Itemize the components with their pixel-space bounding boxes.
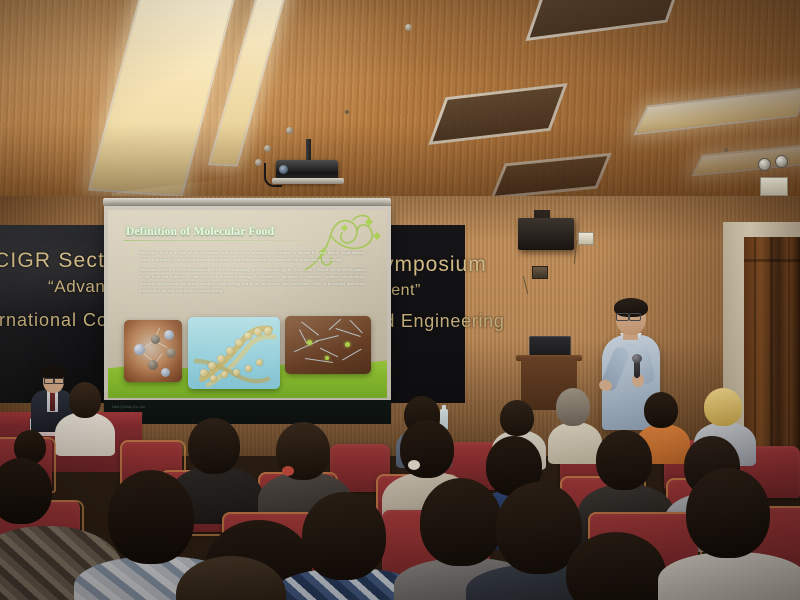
door-panel-line	[788, 237, 790, 456]
ceiling-sprinkler-head	[405, 24, 412, 31]
slide-title-underline	[124, 240, 342, 241]
audience-head	[644, 392, 678, 428]
door-alarm-sensor-icon	[758, 158, 771, 171]
microphone-head-icon	[632, 354, 642, 363]
audience-member	[55, 382, 115, 452]
conference-photo-scene: CIGR Section “Advanced ernational Cong S…	[0, 0, 800, 600]
ceiling-sprinkler-head	[255, 159, 262, 166]
audience-head	[0, 458, 52, 524]
molecule-ball-and-stick-thumbnail	[124, 320, 182, 382]
side-exit-door[interactable]	[744, 237, 800, 456]
glasses-icon	[616, 313, 629, 321]
ceiling-fitting-dot	[345, 110, 349, 114]
audience-head	[596, 430, 652, 490]
credit-line: New (China) Co.,Ltd.	[112, 405, 146, 409]
slide-bullet: Molecular food is the forefront branch o…	[130, 267, 366, 295]
audience-member	[288, 492, 408, 600]
door-panel-line	[770, 237, 773, 456]
wall-power-outlet[interactable]	[532, 266, 548, 279]
audience-head	[176, 556, 286, 600]
door-alarm-sensor-icon	[775, 155, 788, 168]
glasses-icon	[44, 378, 54, 384]
ceiling-shading	[0, 0, 800, 205]
audience-head	[69, 382, 101, 418]
slide-bullet: Molecular food is a kind of food blendin…	[130, 250, 366, 264]
audience-head-grey	[556, 388, 590, 426]
projector-lens-icon	[279, 165, 288, 174]
hair-clip	[408, 460, 420, 470]
audience-shoulders	[658, 552, 800, 600]
slide-bullet-list: Molecular food is a kind of food blendin…	[130, 250, 366, 298]
wall-power-outlet[interactable]	[578, 232, 594, 245]
glasses-icon	[629, 313, 641, 321]
dna-double-helix-thumbnail	[188, 317, 280, 389]
projection-screen-case	[103, 198, 391, 206]
audience-head	[566, 532, 666, 600]
wooden-slat-ceiling	[0, 0, 800, 205]
hair-tie	[282, 466, 294, 476]
audience-head	[500, 400, 534, 436]
audience-head	[108, 470, 194, 564]
audience-head	[302, 492, 386, 580]
ceiling-sprinkler-head	[286, 127, 293, 134]
door-panel-line	[754, 237, 756, 456]
ceiling-sprinkler-head	[264, 145, 271, 152]
ceiling-fitting-dot	[724, 148, 728, 152]
audience-head	[686, 468, 770, 558]
wall-mounted-loudspeaker	[518, 218, 574, 250]
projector-mount-pole	[306, 139, 311, 161]
audience-head	[188, 418, 240, 474]
slide-title: Definition of Molecular Food	[126, 226, 274, 238]
audience-member	[176, 556, 306, 600]
door-header-line	[744, 259, 800, 262]
projector-mount-plate	[272, 178, 344, 184]
audience-head-blonde	[704, 388, 742, 426]
presentation-slide: Definition of Molecular Food Molecular f…	[108, 210, 387, 398]
audience-head-long-hair	[400, 420, 454, 478]
molecular-network-thumbnail	[285, 316, 371, 374]
audience-member	[672, 468, 792, 600]
door-sign-plate	[760, 177, 788, 196]
